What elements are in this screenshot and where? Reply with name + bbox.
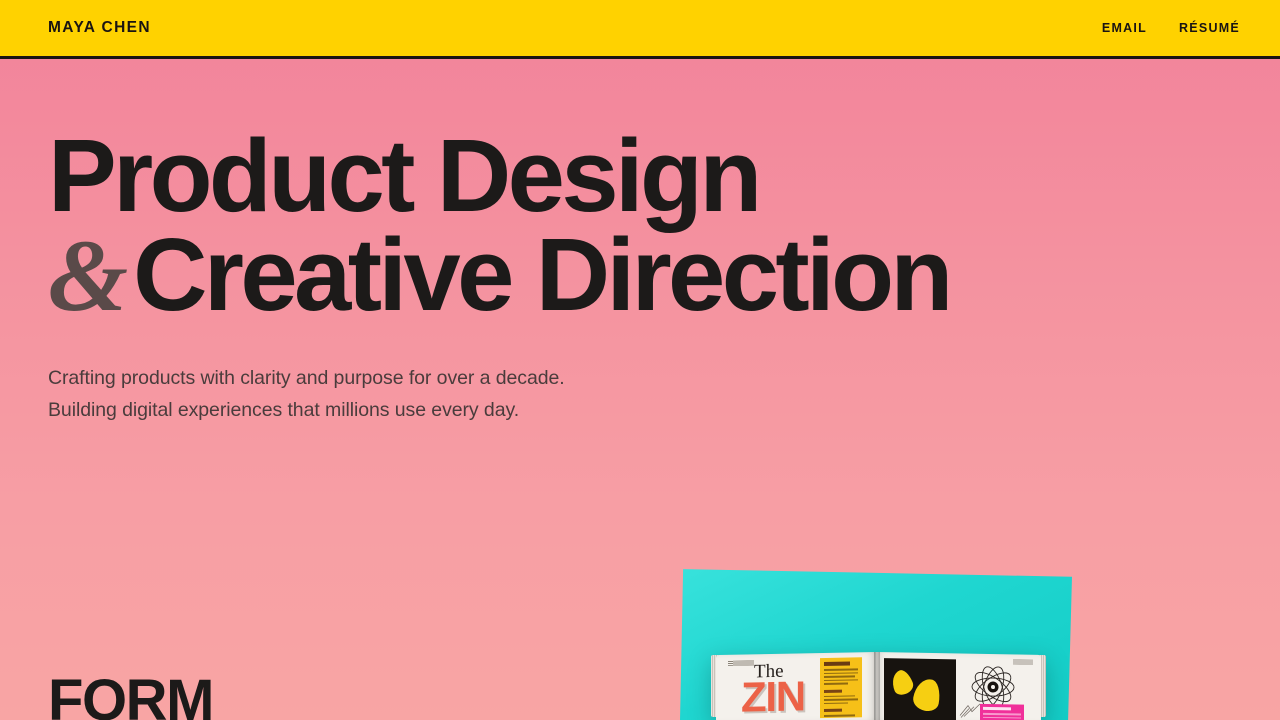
page-title: Product Design &Creative Direction [48,127,1280,326]
sidebar-text-line [824,702,848,704]
portfolio-landing-page: MAYA CHEN EMAIL RÉSUMÉ Product Design &C… [0,0,1280,720]
site-header: MAYA CHEN EMAIL RÉSUMÉ [0,0,1280,59]
magazine-spine [874,652,880,720]
section-heading-form: FORM [48,672,213,720]
sidebar-subtitle-bar [824,689,842,692]
sidebar-title-bar [824,661,850,665]
yellow-sidebar-column [820,657,862,718]
sticky-note-title [983,707,1011,710]
hero-title-line-2: &Creative Direction [48,226,1280,326]
brand-name[interactable]: MAYA CHEN [48,19,151,37]
hero-section: Product Design &Creative Direction Craft… [0,59,1280,426]
ampersand-glyph: & [48,219,133,333]
sidebar-text-line [824,679,858,681]
magazine-right-page [876,652,1041,720]
open-magazine: The ZIN [716,652,1041,720]
magazine-left-page: The ZIN [716,652,876,720]
nav-link-resume[interactable]: RÉSUMÉ [1179,21,1240,35]
hero-subtitle-line-1: Crafting products with clarity and purpo… [48,362,1280,394]
sidebar-text-line [824,675,855,677]
pink-sticky-note [980,704,1024,720]
nav-link-email[interactable]: EMAIL [1102,21,1147,35]
sidebar-text-line [824,698,858,700]
pencil-sketch-icon [958,701,982,719]
sidebar-text-line [824,714,855,716]
sidebar-text-line [824,668,858,670]
sidebar-text-line [824,672,858,674]
pear-shape-icon [911,677,942,713]
sidebar-subtitle-bar [824,709,842,712]
sidebar-text-line [824,695,855,697]
black-art-panel [884,658,956,720]
hero-subtitle: Crafting products with clarity and purpo… [48,362,1280,426]
primary-nav: EMAIL RÉSUMÉ [1102,21,1240,35]
sticky-note-line [983,713,1021,715]
sticky-note-line [983,716,1021,718]
hero-title-line-2-text: Creative Direction [133,217,950,332]
pear-shape-icon [888,668,916,698]
magazine-photo: The ZIN [676,560,1080,720]
micro-header-text [728,660,754,665]
zine-word: ZIN [741,675,805,718]
sidebar-text-line [824,683,848,685]
hero-title-line-1: Product Design [48,118,759,233]
hero-subtitle-line-2: Building digital experiences that millio… [48,394,1280,426]
